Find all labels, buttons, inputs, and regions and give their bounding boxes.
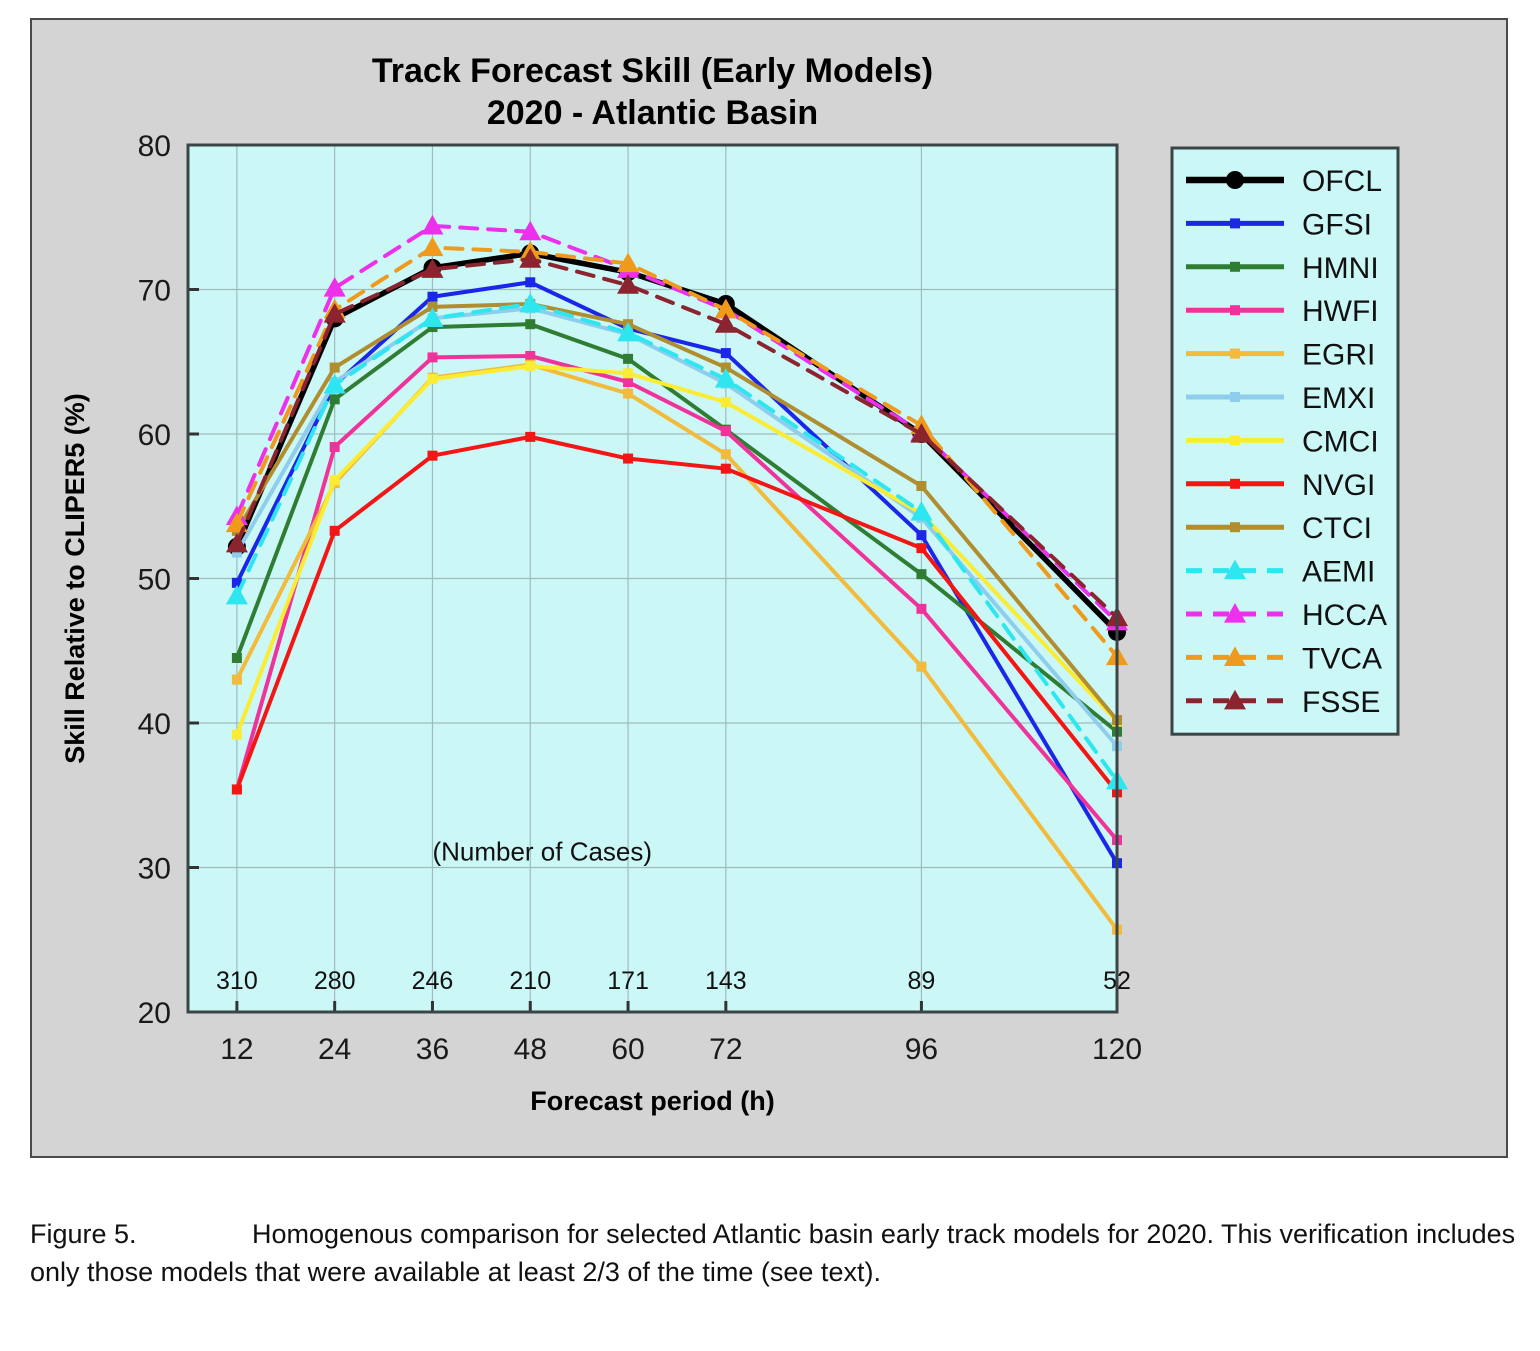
y-tick-label: 50	[138, 564, 171, 597]
legend-label: CMCI	[1302, 425, 1379, 458]
legend-label: TVCA	[1302, 642, 1382, 675]
data-point	[525, 319, 535, 329]
data-point	[916, 481, 926, 491]
y-axis-label: Skill Relative to CLIPER5 (%)	[60, 393, 90, 764]
data-point	[330, 442, 340, 452]
number-of-cases-caption: (Number of Cases)	[432, 836, 652, 866]
data-point	[525, 361, 535, 371]
data-point	[721, 426, 731, 436]
x-tick-label: 72	[709, 1033, 742, 1066]
data-point	[623, 377, 633, 387]
legend-label: HWFI	[1302, 295, 1379, 328]
legend-label: EMXI	[1302, 382, 1375, 415]
case-count-label: 280	[314, 967, 356, 995]
data-point	[525, 351, 535, 361]
y-tick-label: 20	[138, 997, 171, 1030]
figure-number: Figure 5.	[30, 1215, 137, 1253]
legend-marker	[1230, 522, 1240, 532]
legend-marker	[1230, 349, 1240, 359]
data-point	[623, 368, 633, 378]
data-point	[623, 389, 633, 399]
figure-caption: Figure 5. Homogenous comparison for sele…	[30, 1215, 1520, 1292]
case-count-label: 310	[216, 967, 258, 995]
legend-marker	[1230, 479, 1240, 489]
legend-marker	[1230, 392, 1240, 402]
legend-marker	[1230, 262, 1240, 272]
data-point	[623, 354, 633, 364]
data-point	[916, 530, 926, 540]
x-tick-label: 24	[318, 1033, 351, 1066]
data-point	[330, 526, 340, 536]
data-point	[916, 604, 926, 614]
data-point	[232, 784, 242, 794]
legend-label: FSSE	[1302, 686, 1380, 719]
chart-title: Track Forecast Skill (Early Models)	[372, 52, 933, 90]
y-tick-label: 30	[138, 853, 171, 886]
legend-label: AEMI	[1302, 556, 1375, 589]
data-point	[427, 292, 437, 302]
figure-caption-text: Homogenous comparison for selected Atlan…	[30, 1219, 1515, 1287]
data-point	[427, 352, 437, 362]
x-tick-label: 36	[416, 1033, 449, 1066]
legend-label: OFCL	[1302, 165, 1382, 198]
y-tick-label: 40	[138, 708, 171, 741]
y-tick-label: 60	[138, 419, 171, 452]
x-tick-label: 96	[905, 1033, 938, 1066]
case-count-label: 171	[607, 967, 649, 995]
data-point	[232, 653, 242, 663]
legend-label: GFSI	[1302, 208, 1372, 241]
legend-label: CTCI	[1302, 512, 1372, 545]
data-point	[330, 475, 340, 485]
legend-marker	[1230, 218, 1240, 228]
data-point	[721, 464, 731, 474]
case-count-label: 89	[908, 967, 936, 995]
data-point	[721, 348, 731, 358]
case-count-label: 210	[509, 967, 551, 995]
data-point	[916, 662, 926, 672]
figure-panel: Track Forecast Skill (Early Models)2020 …	[30, 18, 1508, 1158]
data-point	[427, 374, 437, 384]
legend-label: EGRI	[1302, 339, 1375, 372]
data-point	[623, 454, 633, 464]
legend-marker	[1230, 435, 1240, 445]
data-point	[525, 432, 535, 442]
y-tick-label: 80	[138, 130, 171, 163]
legend-label: HMNI	[1302, 252, 1379, 285]
x-tick-label: 60	[611, 1033, 644, 1066]
data-point	[232, 730, 242, 740]
data-point	[916, 543, 926, 553]
chart-subtitle: 2020 - Atlantic Basin	[487, 94, 818, 132]
legend: OFCLGFSIHMNIHWFIEGRIEMXICMCINVGICTCIAEMI…	[1172, 148, 1398, 734]
data-point	[721, 397, 731, 407]
data-point	[916, 569, 926, 579]
data-point	[525, 277, 535, 287]
x-axis-label: Forecast period (h)	[530, 1086, 775, 1116]
legend-marker	[1230, 305, 1240, 315]
data-point	[330, 363, 340, 373]
case-count-label: 143	[705, 967, 747, 995]
legend-marker	[1226, 171, 1244, 189]
case-count-label: 246	[412, 967, 454, 995]
data-point	[721, 449, 731, 459]
legend-label: HCCA	[1302, 599, 1387, 632]
data-point	[232, 675, 242, 685]
y-tick-label: 70	[138, 275, 171, 308]
track-forecast-skill-chart: Track Forecast Skill (Early Models)2020 …	[32, 20, 1506, 1156]
x-tick-label: 120	[1092, 1033, 1142, 1066]
legend-label: NVGI	[1302, 469, 1375, 502]
data-point	[330, 394, 340, 404]
x-tick-label: 48	[514, 1033, 547, 1066]
x-tick-label: 12	[220, 1033, 253, 1066]
data-point	[427, 451, 437, 461]
